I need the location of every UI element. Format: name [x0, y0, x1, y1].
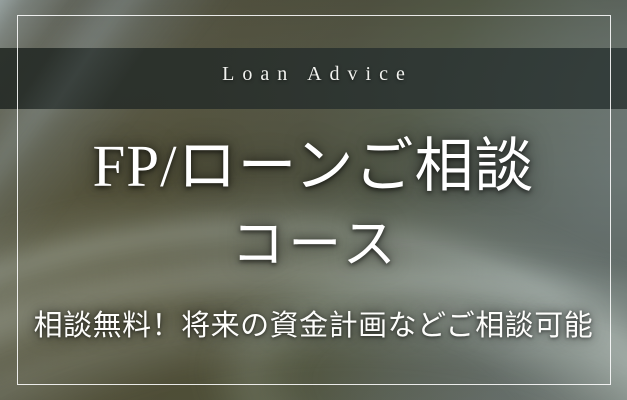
banner-content: Loan Advice FP/ローンご相談 コース 相談無料！将来の資金計画など…: [0, 0, 627, 400]
loan-advice-banner: Loan Advice FP/ローンご相談 コース 相談無料！将来の資金計画など…: [0, 0, 627, 400]
page-title-line-1: FP/ローンご相談: [0, 136, 627, 198]
page-title-line-2: コース: [0, 218, 627, 274]
eyebrow-label: Loan Advice: [0, 63, 627, 86]
banner-subtitle: 相談無料！将来の資金計画などご相談可能: [0, 302, 627, 344]
